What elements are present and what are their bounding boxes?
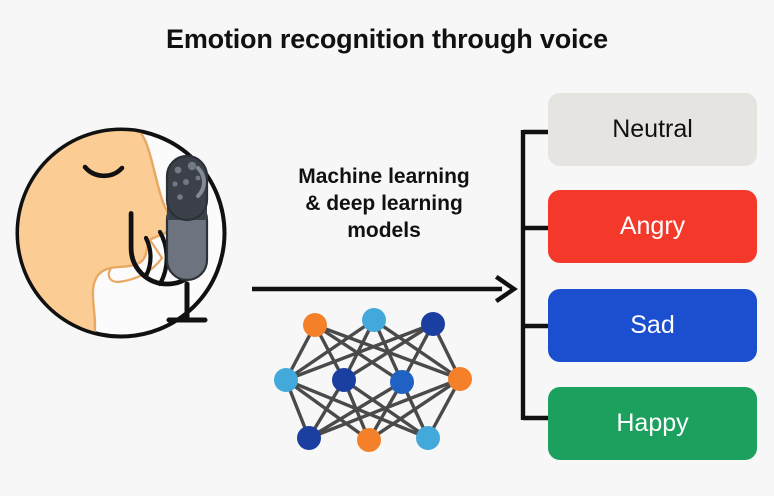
emotion-label: Sad (630, 311, 674, 340)
neural-node (332, 368, 356, 392)
emotion-box-angry[interactable]: Angry (548, 190, 757, 263)
neural-network-diagram (262, 298, 482, 468)
neural-node (448, 367, 472, 391)
emotion-box-sad[interactable]: Sad (548, 289, 757, 362)
face-microphone-svg (12, 112, 234, 357)
pipeline-caption: Machine learning & deep learning models (248, 163, 520, 244)
emotion-label: Neutral (612, 115, 693, 144)
neural-node (362, 308, 386, 332)
infographic-canvas: Emotion recognition through voice (0, 0, 774, 496)
speaking-face-illustration (12, 112, 234, 357)
neural-node (357, 428, 381, 452)
caption-line-2: & deep learning (248, 190, 520, 217)
neural-node (416, 426, 440, 450)
neural-node (303, 313, 327, 337)
emotion-box-happy[interactable]: Happy (548, 387, 757, 460)
emotion-box-neutral[interactable]: Neutral (548, 93, 757, 166)
emotion-label: Angry (620, 212, 685, 241)
neural-node (390, 370, 414, 394)
neural-node (274, 368, 298, 392)
caption-line-3: models (248, 217, 520, 244)
caption-line-1: Machine learning (248, 163, 520, 190)
neural-node (421, 312, 445, 336)
neural-network-svg (262, 298, 482, 468)
page-title: Emotion recognition through voice (0, 22, 774, 56)
emotion-label: Happy (616, 409, 688, 438)
neural-node (297, 426, 321, 450)
